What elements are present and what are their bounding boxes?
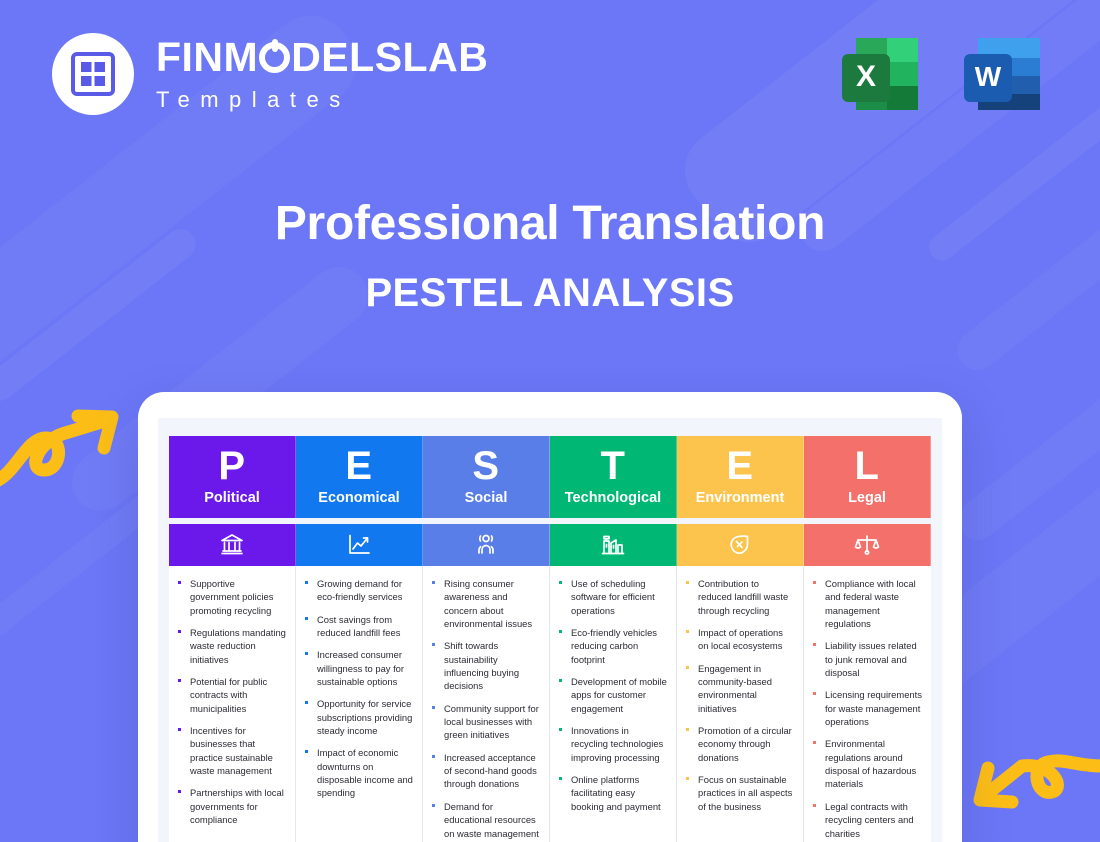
list-item: Liability issues related to junk removal… [811,639,922,679]
pestel-body-legal: Compliance with local and federal waste … [804,566,931,842]
pestel-label: Legal [848,490,886,506]
list-item: Growing demand for eco-friendly services [303,577,413,604]
pestel-item-list: Growing demand for eco-friendly services… [303,577,413,800]
list-item: Eco-friendly vehicles reducing carbon fo… [557,626,667,666]
list-item: Environmental regulations around disposa… [811,737,922,790]
list-item-text: Innovations in recycling technologies im… [571,725,663,763]
pestel-letter: L [855,448,880,485]
list-item-text: Impact of economic downturns on disposab… [317,747,413,798]
list-item-text: Cost savings from reduced landfill fees [317,614,400,638]
list-item: Compliance with local and federal waste … [811,577,922,630]
list-item-text: Use of scheduling software for efficient… [571,578,655,616]
pestel-letter: T [601,448,626,485]
list-item: Contribution to reduced landfill waste t… [684,577,794,617]
list-item: Supportive government policies promoting… [176,577,286,617]
line-chart-icon [346,532,372,558]
brand-name-part1: FINM [156,37,258,78]
device-card: PPoliticalEEconomicalSSocialTTechnologic… [138,392,962,842]
list-item: Opportunity for service subscriptions pr… [303,697,413,737]
brand-name: FINMDELSLAB [156,37,488,78]
factory-buildings-icon [600,532,626,558]
list-item-text: Potential for public contracts with muni… [190,676,267,714]
pestel-icon-cell-environment[interactable] [677,524,804,566]
list-item-text: Development of mobile apps for customer … [571,676,667,714]
pestel-letter: S [472,448,499,485]
list-item: Promotion of a circular economy through … [684,724,794,764]
squiggly-arrow-down-left-icon [968,752,1100,842]
list-item: Shift towards sustainability influencing… [430,639,540,692]
brand-name-part2: DELSLAB [291,37,488,78]
people-group-icon [473,532,499,558]
pestel-icon-cell-political[interactable] [169,524,296,566]
pestel-item-list: Contribution to reduced landfill waste t… [684,577,794,813]
list-item: Community support for local businesses w… [430,702,540,742]
power-o-icon [259,42,290,73]
list-item-text: Environmental regulations around disposa… [825,738,916,789]
list-item-text: Opportunity for service subscriptions pr… [317,698,412,736]
brand-tagline: Templates [156,89,488,111]
list-item: Online platforms facilitating easy booki… [557,773,667,813]
list-item-text: Eco-friendly vehicles reducing carbon fo… [571,627,657,665]
pestel-label: Technological [565,490,661,506]
pestel-table: PPoliticalEEconomicalSSocialTTechnologic… [169,436,931,842]
list-item: Partnerships with local governments for … [176,786,286,826]
pestel-icon-cell-legal[interactable] [804,524,931,566]
list-item-text: Increased consumer willingness to pay fo… [317,649,404,687]
pestel-letter: E [726,448,753,485]
list-item: Innovations in recycling technologies im… [557,724,667,764]
pestel-label: Economical [318,490,399,506]
list-item-text: Shift towards sustainability influencing… [444,640,519,691]
list-item: Licensing requirements for waste managem… [811,688,922,728]
squiggly-arrow-up-right-icon [0,404,132,500]
pestel-header-environment[interactable]: EEnvironment [677,436,804,518]
pestel-icon-cell-social[interactable] [423,524,550,566]
pestel-letter: E [345,448,372,485]
list-item: Regulations mandating waste reduction in… [176,626,286,666]
list-item: Potential for public contracts with muni… [176,675,286,715]
list-item: Use of scheduling software for efficient… [557,577,667,617]
pestel-header-technological[interactable]: TTechnological [550,436,677,518]
pestel-body-social: Rising consumer awareness and concern ab… [423,566,550,842]
pestel-letter: P [218,448,245,485]
pestel-body-technological: Use of scheduling software for efficient… [550,566,677,842]
pestel-header-political[interactable]: PPolitical [169,436,296,518]
sheet-canvas: PPoliticalEEconomicalSSocialTTechnologic… [158,418,942,842]
list-item-text: Impact of operations on local ecosystems [698,627,783,651]
list-item-text: Compliance with local and federal waste … [825,578,916,629]
list-item-text: Focus on sustainable practices in all as… [698,774,792,812]
list-item: Increased consumer willingness to pay fo… [303,648,413,688]
list-item-text: Licensing requirements for waste managem… [825,689,922,727]
list-item-text: Growing demand for eco-friendly services [317,578,402,602]
page-title: Professional Translation [0,196,1100,251]
list-item: Impact of operations on local ecosystems [684,626,794,653]
list-item-text: Regulations mandating waste reduction in… [190,627,286,665]
list-item-text: Rising consumer awareness and concern ab… [444,578,532,629]
pestel-body-political: Supportive government policies promoting… [169,566,296,842]
list-item: Cost savings from reduced landfill fees [303,613,413,640]
pestel-label: Social [465,490,508,506]
list-item-text: Liability issues related to junk removal… [825,640,917,678]
pestel-header-economical[interactable]: EEconomical [296,436,423,518]
list-item-text: Increased acceptance of second-hand good… [444,752,537,790]
list-item: Demand for educational resources on wast… [430,800,540,842]
word-icon[interactable]: W [956,28,1048,120]
list-item: Rising consumer awareness and concern ab… [430,577,540,630]
pestel-label: Political [204,490,260,506]
list-item: Impact of economic downturns on disposab… [303,746,413,799]
list-item: Engagement in community-based environmen… [684,662,794,715]
list-item: Increased acceptance of second-hand good… [430,751,540,791]
list-item-text: Online platforms facilitating easy booki… [571,774,661,812]
svg-text:W: W [975,61,1002,92]
header-bar: FINMDELSLAB Templates X W [0,0,1100,148]
leaf-icon [727,532,753,558]
bank-building-icon [219,532,245,558]
page-title-block: Professional Translation PESTEL ANALYSIS [0,196,1100,316]
list-item-text: Demand for educational resources on wast… [444,801,539,842]
pestel-header-legal[interactable]: LLegal [804,436,931,518]
pestel-icon-cell-economical[interactable] [296,524,423,566]
pestel-item-list: Supportive government policies promoting… [176,577,286,827]
pestel-body-economical: Growing demand for eco-friendly services… [296,566,423,842]
excel-icon[interactable]: X [834,28,926,120]
list-item-text: Supportive government policies promoting… [190,578,273,616]
list-item: Development of mobile apps for customer … [557,675,667,715]
pestel-item-list: Rising consumer awareness and concern ab… [430,577,540,842]
list-item: Focus on sustainable practices in all as… [684,773,794,813]
pestel-label: Environment [696,490,785,506]
pestel-item-list: Use of scheduling software for efficient… [557,577,667,813]
brand-logo[interactable]: FINMDELSLAB Templates [52,33,488,115]
svg-text:X: X [856,60,876,93]
office-app-icons: X W [834,28,1048,120]
pestel-item-list: Compliance with local and federal waste … [811,577,922,840]
list-item-text: Contribution to reduced landfill waste t… [698,578,788,616]
list-item-text: Engagement in community-based environmen… [698,663,772,714]
page-subtitle: PESTEL ANALYSIS [0,271,1100,316]
pestel-icon-cell-technological[interactable] [550,524,677,566]
list-item-text: Legal contracts with recycling centers a… [825,801,914,839]
list-item: Incentives for businesses that practice … [176,724,286,777]
pestel-header-social[interactable]: SSocial [423,436,550,518]
list-item-text: Promotion of a circular economy through … [698,725,792,763]
scales-of-justice-icon [854,532,880,558]
grid-squares-icon [52,33,134,115]
list-item-text: Incentives for businesses that practice … [190,725,273,776]
list-item-text: Partnerships with local governments for … [190,787,284,825]
list-item-text: Community support for local businesses w… [444,703,539,741]
list-item: Legal contracts with recycling centers a… [811,800,922,840]
pestel-body-environment: Contribution to reduced landfill waste t… [677,566,804,842]
